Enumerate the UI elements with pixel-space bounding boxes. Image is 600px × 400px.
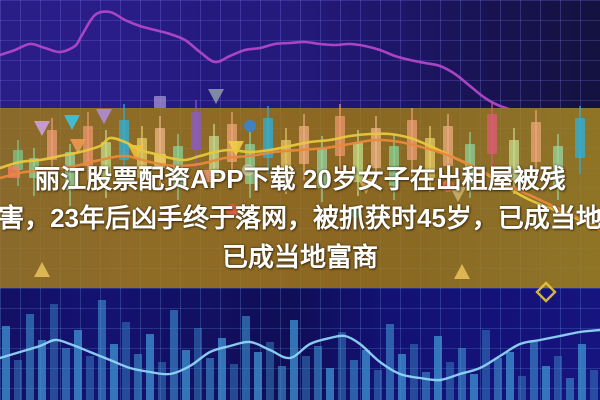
volume-bar bbox=[566, 378, 574, 400]
volume-bar bbox=[530, 340, 538, 400]
chart-marker-square bbox=[154, 96, 166, 108]
chart-marker-triangle-down bbox=[358, 179, 374, 194]
volume-bar bbox=[14, 360, 22, 400]
chart-marker-circle bbox=[242, 164, 254, 176]
volume-bar bbox=[506, 352, 514, 400]
candle-body bbox=[191, 112, 201, 150]
volume-bar bbox=[74, 330, 82, 400]
candle-body bbox=[65, 152, 75, 190]
volume-bar bbox=[350, 360, 358, 400]
volume-bar bbox=[494, 358, 502, 400]
candle-body bbox=[389, 146, 399, 186]
candle-body bbox=[245, 144, 255, 184]
volume-bar bbox=[314, 346, 322, 400]
candlestick-group bbox=[13, 100, 585, 206]
volume-bar bbox=[338, 332, 346, 400]
volume-bar bbox=[146, 334, 154, 400]
chart-marker-triangle-down bbox=[64, 115, 80, 130]
volume-bar bbox=[26, 314, 34, 400]
candle-body bbox=[487, 114, 497, 154]
volume-bar bbox=[398, 354, 406, 400]
volume-bar bbox=[362, 350, 370, 400]
volume-bar bbox=[590, 370, 598, 400]
volume-bar bbox=[230, 364, 238, 400]
chart-marker-circle bbox=[442, 180, 454, 192]
volume-bar bbox=[434, 336, 442, 400]
chart-markers-group bbox=[8, 89, 470, 279]
volume-bar bbox=[278, 366, 286, 400]
candle-body bbox=[47, 130, 57, 160]
volume-bar bbox=[182, 350, 190, 400]
volume-bar bbox=[470, 374, 478, 400]
volume-bar bbox=[86, 356, 94, 400]
volume-bar bbox=[170, 310, 178, 400]
volume-bar bbox=[254, 352, 262, 400]
candle-body bbox=[509, 140, 519, 180]
volume-bar bbox=[242, 316, 250, 400]
chart-marker-triangle-down bbox=[208, 89, 224, 104]
volume-bar bbox=[422, 372, 430, 400]
chart-banner-image: 丽江股票配资APP下载 20岁女子在出租屋被残 害，23年后凶手终于落网，被抓获… bbox=[0, 0, 600, 400]
volume-bar bbox=[62, 348, 70, 400]
volume-bar bbox=[98, 300, 106, 400]
candle-body bbox=[101, 142, 111, 182]
volume-bar bbox=[410, 344, 418, 400]
candle-body bbox=[83, 126, 93, 166]
volume-bar bbox=[518, 376, 526, 400]
chart-marker-circle bbox=[226, 204, 238, 216]
volume-bar bbox=[2, 326, 10, 400]
chart-marker-circle bbox=[244, 120, 256, 132]
candle-body bbox=[317, 148, 327, 188]
chart-marker-triangle-down bbox=[96, 109, 112, 124]
volume-bar bbox=[38, 340, 46, 400]
volume-bar bbox=[374, 370, 382, 400]
volume-bar bbox=[542, 366, 550, 400]
volume-bar bbox=[302, 356, 310, 400]
volume-bar bbox=[386, 324, 394, 400]
volume-bar bbox=[578, 344, 586, 400]
chart-marker-triangle-up bbox=[34, 262, 50, 277]
candle-body bbox=[443, 126, 453, 166]
volume-bar bbox=[206, 358, 214, 400]
volume-bar bbox=[110, 344, 118, 400]
candle-body bbox=[531, 122, 541, 162]
chart-marker-triangle-up bbox=[454, 264, 470, 279]
volume-bar bbox=[446, 362, 454, 400]
volume-bar bbox=[290, 320, 298, 400]
volume-bar bbox=[134, 354, 142, 400]
chart-annotations-group bbox=[537, 283, 555, 301]
chart-marker-circle bbox=[350, 206, 362, 218]
chart-marker-square bbox=[200, 170, 212, 182]
annotation-diamond-outline bbox=[537, 283, 555, 301]
candle-body bbox=[553, 146, 563, 186]
volume-bar bbox=[50, 304, 58, 400]
trend-line-magenta-trend bbox=[0, 12, 600, 126]
volume-bar bbox=[158, 362, 166, 400]
chart-vector-layer bbox=[0, 0, 600, 400]
candle-body bbox=[353, 142, 363, 182]
trend-lines-group bbox=[0, 12, 600, 381]
candle-body bbox=[575, 118, 585, 158]
volume-bar bbox=[554, 356, 562, 400]
volume-bar bbox=[326, 368, 334, 400]
volume-bar bbox=[122, 322, 130, 400]
